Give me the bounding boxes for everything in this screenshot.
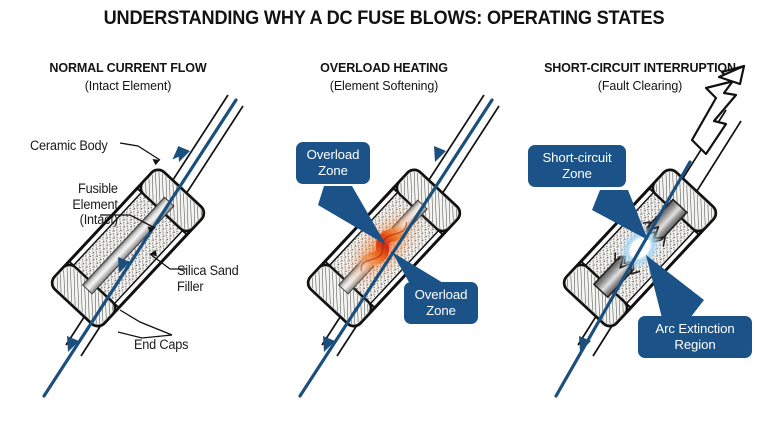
panel-title-normal: NORMAL CURRENT FLOW (6, 60, 249, 75)
silica-sand-filler-fill (583, 190, 696, 306)
end-cap-right (393, 166, 463, 234)
page-title: UNDERSTANDING WHY A DC FUSE BLOWS: OPERA… (27, 7, 741, 30)
end-cap-right (649, 166, 719, 234)
callout-overload-zone-upper[interactable]: Overload Zone (296, 142, 370, 184)
end-cap-left (561, 261, 631, 329)
panel-title-overload: OVERLOAD HEATING (262, 60, 505, 75)
panel-title-short-circuit: SHORT-CIRCUIT INTERRUPTION (518, 60, 761, 75)
end-cap-right (137, 166, 207, 234)
ceramic-body-inner-wall (569, 175, 711, 321)
label-silica-sand-filler: Silica Sand Filler (177, 263, 239, 294)
label-fusible-element: Fusible Element (Intact) (73, 181, 118, 228)
callout-overload-zone-lower[interactable]: Overload Zone (404, 282, 478, 324)
label-end-caps: End Caps (134, 337, 188, 353)
fuse-body-short (561, 166, 720, 329)
arc-extinction-glow (609, 217, 671, 279)
ruptured-element (589, 195, 691, 301)
panel-subtitle-overload: (Element Softening) (261, 78, 507, 93)
fuse-overload (300, 95, 499, 396)
ceramic-body-outline (561, 166, 720, 329)
end-cap-left (49, 261, 119, 329)
diagram-canvas: UNDERSTANDING WHY A DC FUSE BLOWS: OPERA… (0, 0, 768, 432)
callout-short-circuit-zone[interactable]: Short-circuit Zone (528, 145, 626, 187)
leader-lines-normal (100, 143, 186, 338)
panel-subtitle-normal: (Intact Element) (5, 78, 251, 93)
callout-arc-extinction-region[interactable]: Arc Extinction Region (638, 316, 752, 358)
end-cap-left (305, 261, 375, 329)
callout-tails-short (592, 190, 704, 318)
current-arrows-short (556, 162, 690, 396)
leader-arrowheads-normal (148, 159, 160, 257)
label-ceramic-body: Ceramic Body (30, 138, 108, 154)
panel-subtitle-short-circuit: (Fault Clearing) (517, 78, 763, 93)
